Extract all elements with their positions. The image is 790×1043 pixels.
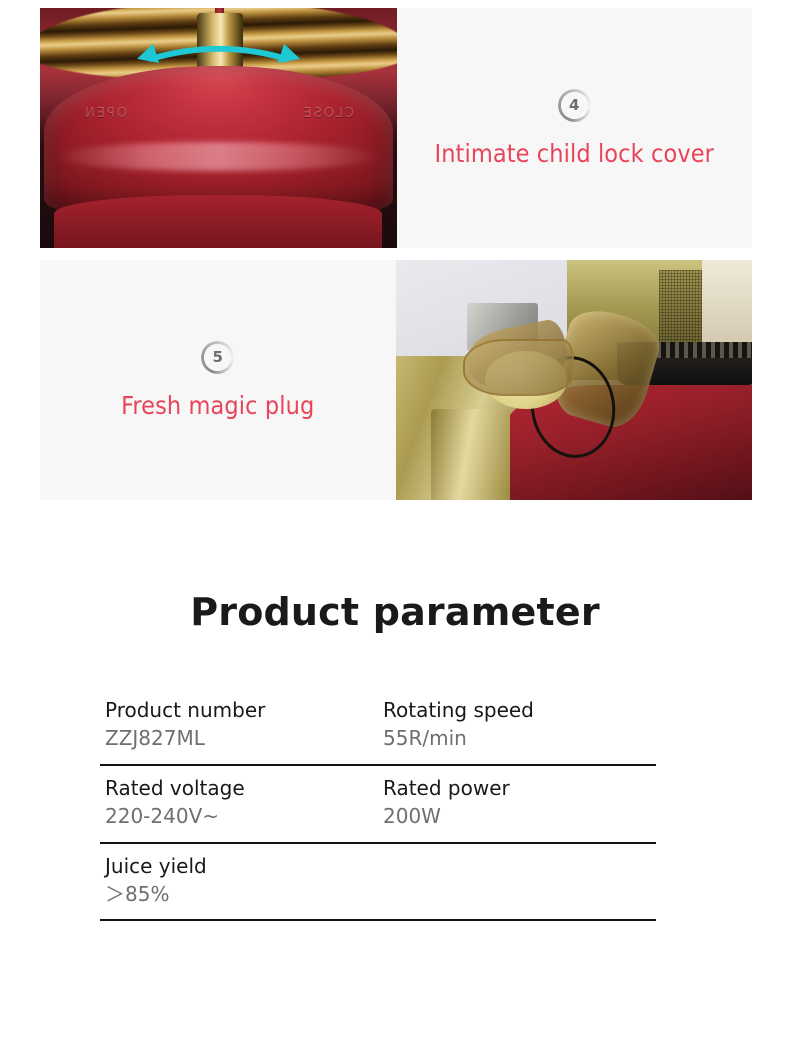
product-parameter-title: Product parameter — [0, 590, 790, 634]
rotation-arrows-icon — [133, 37, 304, 71]
table-cell: Rated power 200W — [378, 774, 656, 831]
param-label: Product number — [105, 696, 378, 724]
red-lid — [44, 66, 393, 215]
param-label: Juice yield — [105, 852, 378, 880]
step-badge-5: 5 — [201, 341, 234, 374]
feature-caption-4: 4 Intimate child lock cover — [397, 8, 753, 248]
table-cell-empty — [378, 852, 656, 909]
step-number: 4 — [558, 89, 591, 122]
param-label: Rated voltage — [105, 774, 378, 802]
table-cell: Rotating speed 55R/min — [378, 696, 656, 753]
child-lock-cover-photo: CLOSE OPEN — [40, 8, 397, 248]
feature-caption-text: Fresh magic plug — [121, 391, 314, 420]
plug-cap-lower — [463, 339, 574, 396]
table-row: Juice yield ＞85% — [100, 844, 656, 922]
table-row: Rated voltage 220-240V~ Rated power 200W — [100, 766, 656, 844]
lid-emboss-text: CLOSE OPEN — [83, 94, 354, 132]
param-label: Rotating speed — [383, 696, 656, 724]
param-value: ＞85% — [105, 880, 378, 908]
param-value: 55R/min — [383, 724, 656, 752]
step-number: 5 — [201, 341, 234, 374]
table-cell: Product number ZZJ827ML — [100, 696, 378, 753]
table-cell: Rated voltage 220-240V~ — [100, 774, 378, 831]
param-value: ZZJ827ML — [105, 724, 378, 752]
emboss-close-label: CLOSE — [301, 106, 354, 121]
product-parameter-table: Product number ZZJ827ML Rotating speed 5… — [100, 688, 656, 921]
feature-row: 5 Fresh magic plug — [40, 260, 752, 500]
param-value: 200W — [383, 802, 656, 830]
feature-panel-grid: CLOSE OPEN 4 Intimate child lock cover — [40, 8, 752, 512]
feature-caption-5: 5 Fresh magic plug — [40, 260, 396, 500]
table-cell: Juice yield ＞85% — [100, 852, 378, 909]
feature-row: CLOSE OPEN 4 Intimate child lock cover — [40, 8, 752, 248]
param-label: Rated power — [383, 774, 656, 802]
table-row: Product number ZZJ827ML Rotating speed 5… — [100, 688, 656, 766]
feature-caption-text: Intimate child lock cover — [434, 139, 714, 168]
param-value: 220-240V~ — [105, 802, 378, 830]
fresh-magic-plug-photo — [396, 260, 753, 500]
emboss-open-label: OPEN — [83, 106, 127, 121]
step-badge-4: 4 — [558, 89, 591, 122]
